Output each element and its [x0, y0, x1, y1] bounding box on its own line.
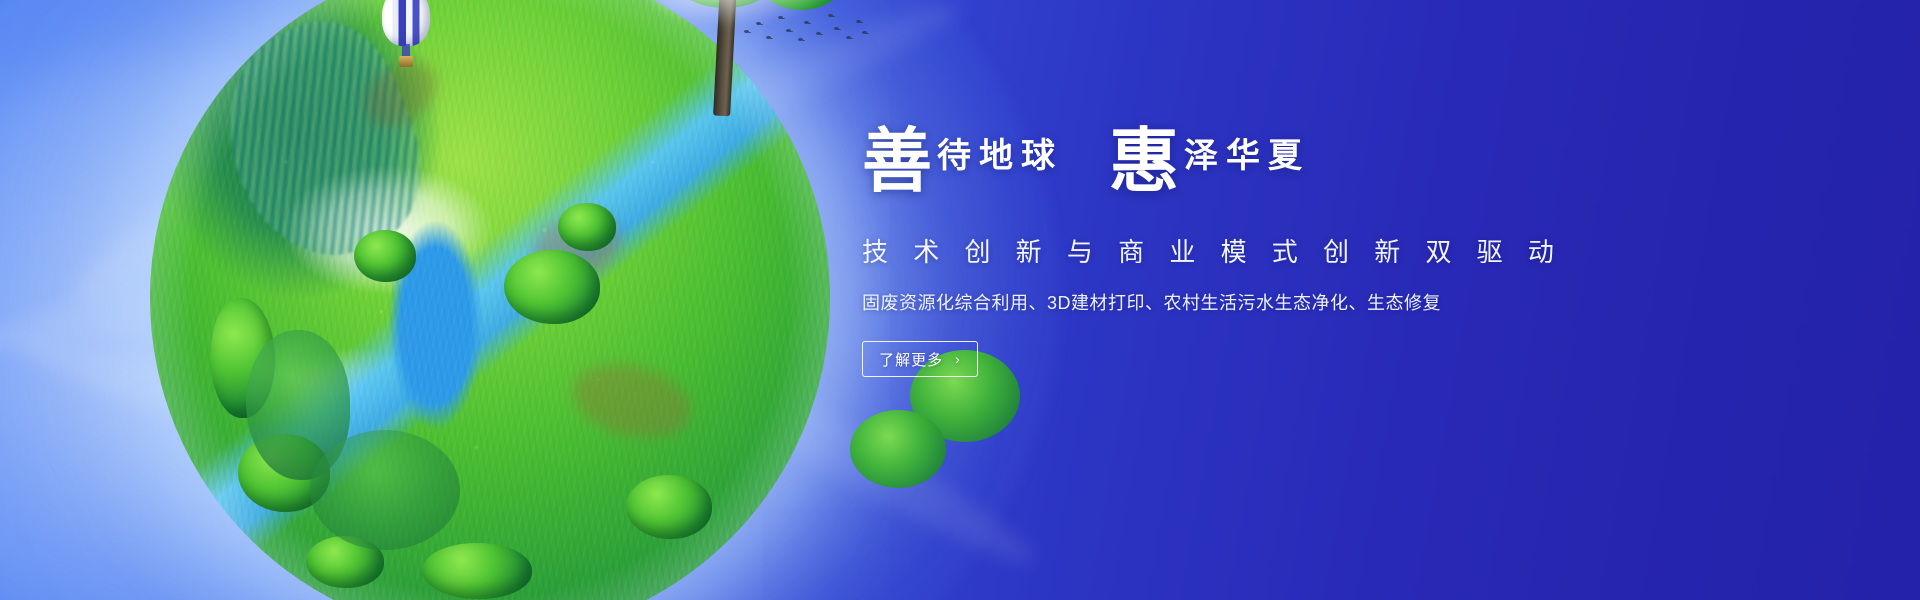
hero-subtitle: 技 术 创 新 与 商 业 模 式 创 新 双 驱 动 — [862, 232, 1562, 269]
hot-air-balloon-icon — [382, 0, 430, 72]
learn-more-button[interactable]: 了解更多 › — [862, 341, 978, 377]
hero-copy-block: 善待地球惠泽华夏 技 术 创 新 与 商 业 模 式 创 新 双 驱 动 固废资… — [862, 128, 1562, 377]
headline-part-2-small: 泽华夏 — [1184, 138, 1310, 175]
hero-description: 固废资源化综合利用、3D建材打印、农村生活污水生态净化、生态修复 — [862, 289, 1562, 315]
tree-clump — [626, 475, 712, 539]
tree-clump — [354, 230, 416, 282]
tree-clump — [422, 543, 532, 599]
hero-banner: 善待地球惠泽华夏 技 术 创 新 与 商 业 模 式 创 新 双 驱 动 固废资… — [0, 0, 1920, 600]
chevron-right-icon: › — [955, 352, 961, 366]
headline-part-1-small: 待地球 — [937, 138, 1063, 175]
edge-tree — [310, 430, 460, 550]
headline-char-1-large: 善 — [862, 124, 933, 201]
globe-illustration — [150, 0, 830, 600]
page-title: 善待地球惠泽华夏 — [862, 128, 1562, 216]
tree-clump — [558, 203, 616, 251]
edge-tree — [850, 410, 946, 488]
tree-clump — [504, 250, 600, 324]
learn-more-label: 了解更多 — [879, 349, 943, 370]
headline-char-2-large: 惠 — [1109, 124, 1180, 201]
birds-flock-icon — [742, 10, 870, 54]
